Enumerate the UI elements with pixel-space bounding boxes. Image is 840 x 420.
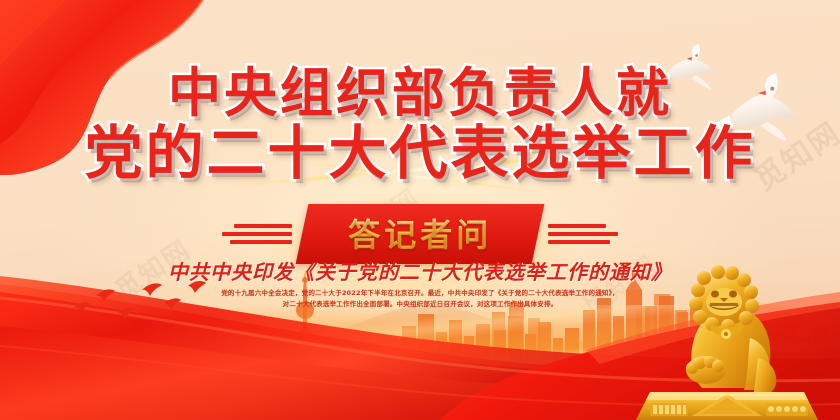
body-line-2: 对二十大代表选举工作作出全面部署。中央组织部近日召开会议，对这项工作作出具体安排… bbox=[210, 299, 630, 310]
headline-line-1: 中央组织部负责人就 bbox=[0, 66, 840, 121]
banner-row: 答记者问 bbox=[0, 204, 840, 264]
page-title: 中央组织部负责人就 党的二十大代表选举工作 bbox=[0, 66, 840, 183]
body-line-1: 党的十九届六中全会决定，党的二十大于2022年下半年在北京召开。最近，中共中央印… bbox=[210, 288, 630, 299]
poster-canvas: 觅知网 觅知网 觅知网 觅知网 中央组织部负责人就 党的二十大代表选举工作 答记… bbox=[0, 0, 840, 420]
answer-banner-label: 答记者问 bbox=[348, 210, 492, 256]
red-flying-birds-icon bbox=[60, 280, 220, 340]
body-paragraph: 党的十九届六中全会决定，党的二十大于2022年下半年在北京召开。最近，中共中央印… bbox=[210, 288, 630, 309]
ground-light-streaks bbox=[0, 305, 840, 420]
subtitle: 中共中央印发《关于党的二十大代表选举工作的通知》 bbox=[0, 256, 840, 285]
ground-glow bbox=[0, 305, 840, 420]
stripe-decoration-right bbox=[548, 224, 620, 244]
stripe-decoration-left bbox=[220, 224, 292, 244]
answer-banner: 答记者问 bbox=[296, 204, 545, 264]
headline-line-2: 党的二十大代表选举工作 bbox=[0, 123, 840, 183]
